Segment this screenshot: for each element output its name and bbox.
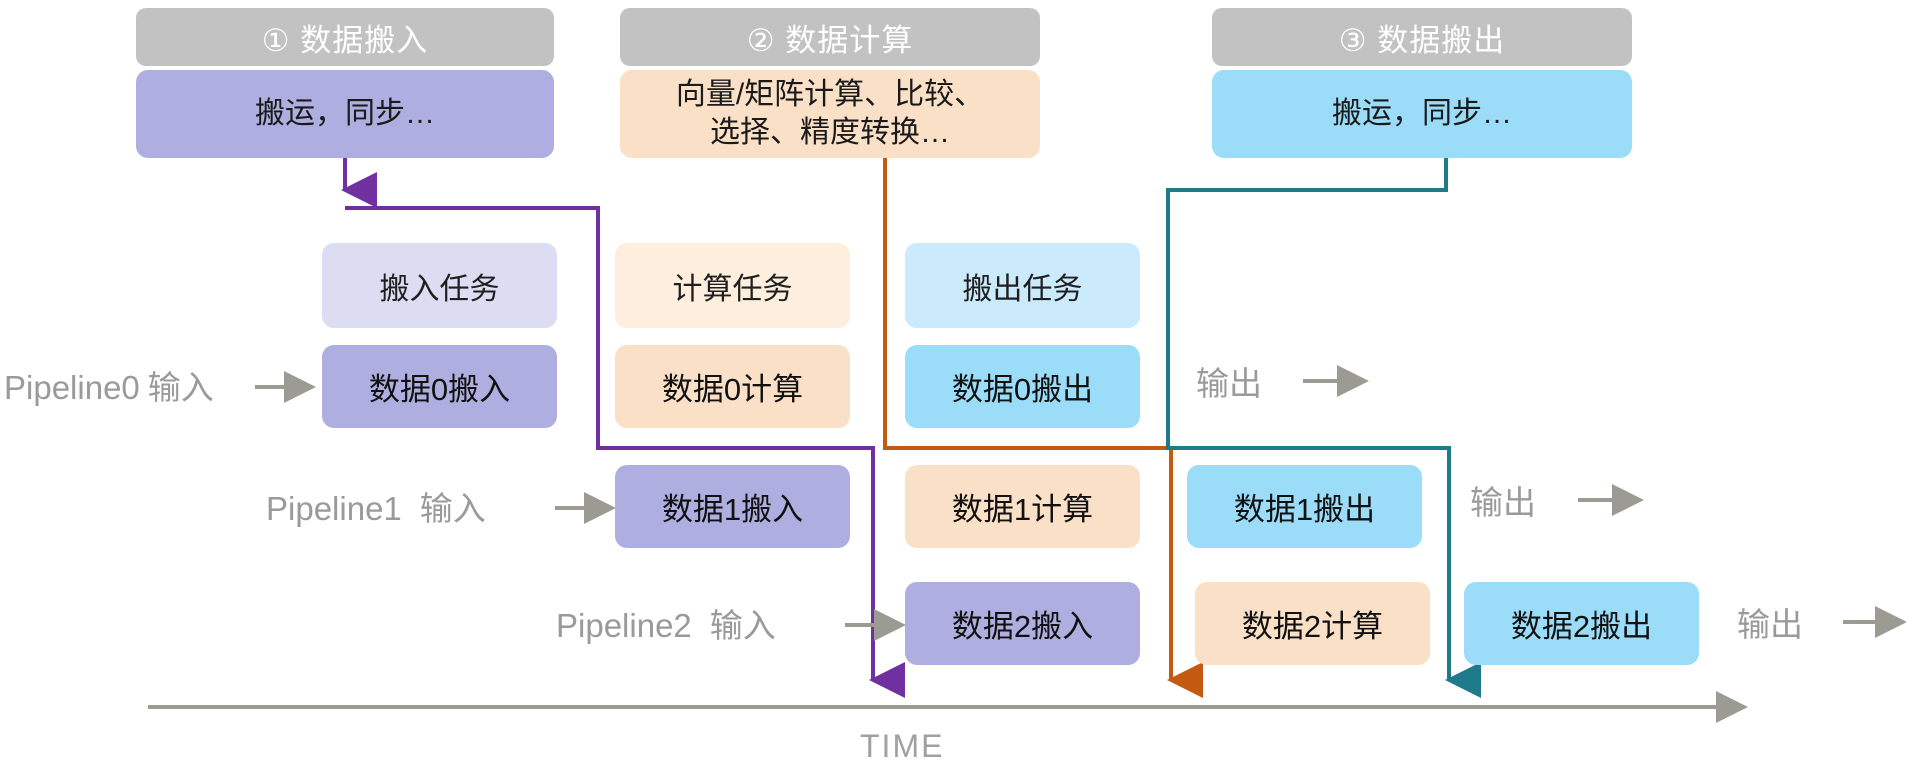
pipeline-2-output-label: 输出	[1737, 603, 1803, 645]
column-header-body-2-line2: 选择、精度转换…	[710, 114, 950, 152]
legend-move-out-task: 搬出任务	[905, 243, 1140, 328]
pipeline-1-input-text: 输入	[420, 492, 486, 525]
column-header-title-3: ③ 数据搬出	[1212, 8, 1632, 66]
pipeline-1-move-in: 数据1搬入	[615, 465, 850, 548]
column-header-body-2-line1: 向量/矩阵计算、比较、	[676, 76, 984, 114]
pipeline-0-output-text: 输出	[1196, 367, 1262, 400]
pipeline-1-input-label: Pipeline1 输入	[266, 487, 486, 529]
pipeline-2-move-out: 数据2搬出	[1464, 582, 1699, 665]
column-header-title-2: ② 数据计算	[620, 8, 1040, 66]
pipeline-1-compute: 数据1计算	[905, 465, 1140, 548]
pipeline-0-input-label: Pipeline0 输入	[4, 366, 214, 408]
pipeline-0-name: Pipeline0	[4, 371, 140, 404]
pipeline-2-name: Pipeline2	[556, 609, 692, 642]
pipeline-0-move-out: 数据0搬出	[905, 345, 1140, 428]
pipeline-1-output-text: 输出	[1470, 486, 1536, 519]
time-axis-label: TIME	[860, 728, 944, 765]
pipeline-1-move-out: 数据1搬出	[1187, 465, 1422, 548]
pipeline-2-move-in: 数据2搬入	[905, 582, 1140, 665]
legend-move-in-task: 搬入任务	[322, 243, 557, 328]
pipeline-0-compute: 数据0计算	[615, 345, 850, 428]
pipeline-1-name: Pipeline1	[266, 492, 402, 525]
legend-compute-task: 计算任务	[615, 243, 850, 328]
pipeline-0-output-label: 输出	[1196, 362, 1262, 404]
pipeline-0-move-in: 数据0搬入	[322, 345, 557, 428]
column-header-title-1: ① 数据搬入	[136, 8, 554, 66]
pipeline-0-input-text: 输入	[148, 371, 214, 404]
column-header-body-3: 搬运，同步…	[1212, 70, 1632, 158]
pipeline-1-output-label: 输出	[1470, 481, 1536, 523]
pipeline-diagram: ① 数据搬入 搬运，同步… ② 数据计算 向量/矩阵计算、比较、 选择、精度转换…	[0, 0, 1906, 772]
pipeline-2-output-text: 输出	[1737, 608, 1803, 641]
pipeline-2-input-text: 输入	[710, 609, 776, 642]
pipeline-2-input-label: Pipeline2 输入	[556, 604, 776, 646]
column-header-body-1: 搬运，同步…	[136, 70, 554, 158]
pipeline-2-compute: 数据2计算	[1195, 582, 1430, 665]
column-header-body-2: 向量/矩阵计算、比较、 选择、精度转换…	[620, 70, 1040, 158]
